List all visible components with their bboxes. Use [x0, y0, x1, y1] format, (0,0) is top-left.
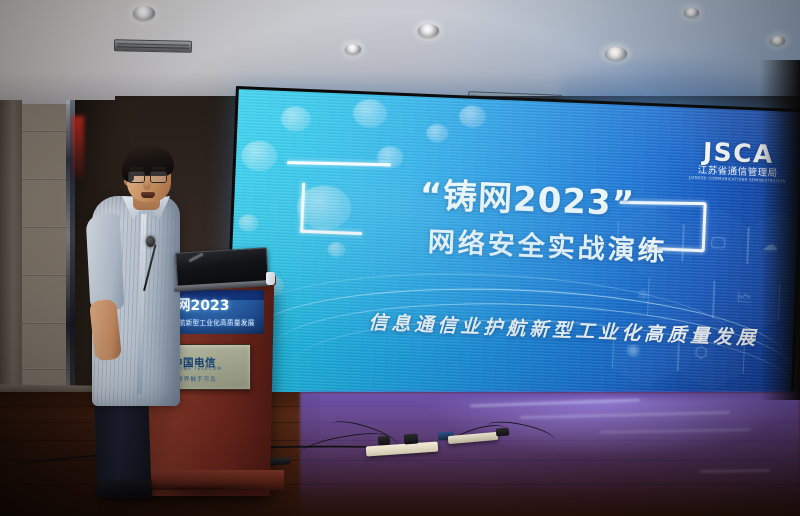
plaque-brand-en: CHINA TELECOM [173, 366, 222, 371]
ceiling-spotlight [345, 44, 361, 54]
screen-vignette [225, 88, 800, 419]
air-vent [114, 39, 192, 53]
ceiling-spotlight [418, 24, 439, 37]
speaker-shoe [96, 479, 153, 499]
water-cup [266, 272, 275, 285]
ceiling-spotlight [133, 6, 155, 20]
led-screen: 🖵 ⚛ 🗠 ◉ ⬡ ☁ “铸网2023” 网络安全实战演练 信息通信业护航新型工… [225, 88, 800, 419]
speaker-mouth [141, 192, 155, 198]
speaker-sleeve [86, 213, 125, 311]
right-wall-shadow [760, 60, 800, 400]
cable-plug [404, 434, 419, 445]
speaker-eyebrow [152, 167, 166, 170]
ceiling-spotlight [770, 36, 785, 45]
screenshot-root: 🖵 ⚛ 🗠 ◉ ⬡ ☁ “铸网2023” 网络安全实战演练 信息通信业护航新型工… [0, 0, 800, 516]
cable-plug [378, 436, 391, 446]
ceiling-spotlight [605, 47, 627, 60]
red-exit-glow [72, 116, 84, 178]
cable-plug [496, 427, 510, 436]
ceiling-spotlight [684, 8, 699, 17]
wall-edge-trim [0, 100, 22, 410]
speaker-eyebrow [130, 167, 144, 170]
microphone-head [146, 236, 155, 247]
speaker-nose [143, 180, 151, 190]
